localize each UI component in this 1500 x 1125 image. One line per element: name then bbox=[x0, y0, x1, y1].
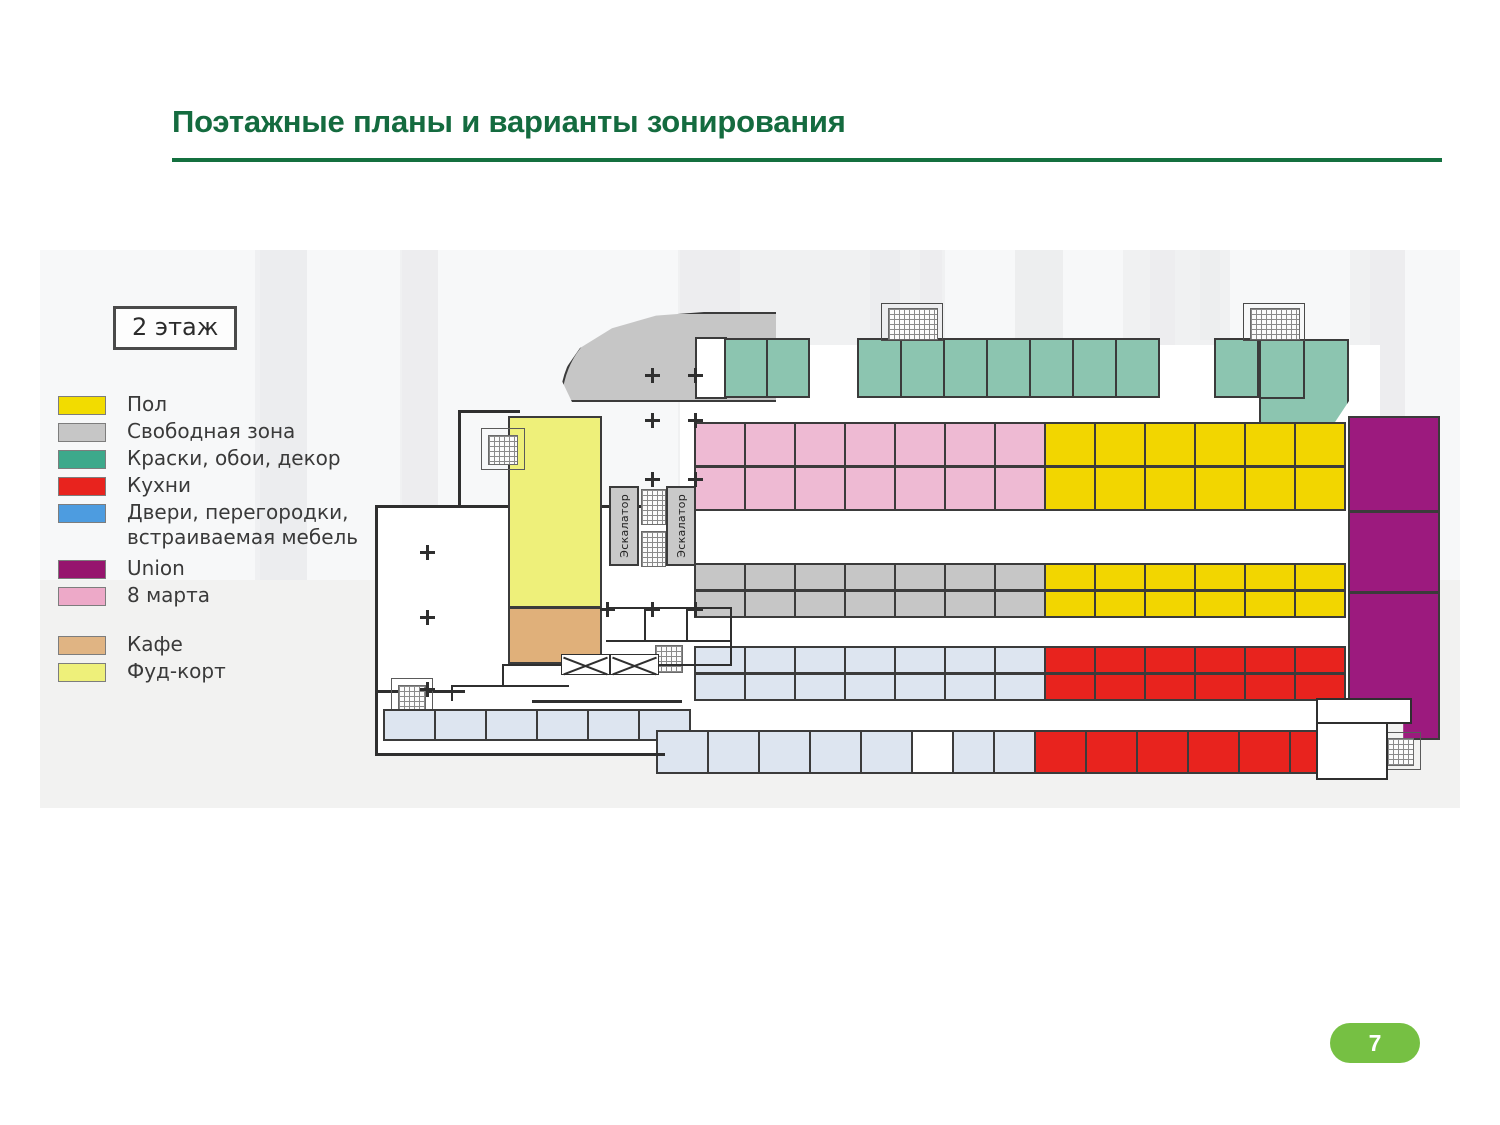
plan-cell[interactable] bbox=[1294, 646, 1346, 674]
column-mark bbox=[600, 602, 615, 617]
core-wall-5 bbox=[532, 700, 682, 703]
column-mark bbox=[645, 472, 660, 487]
plan-cell[interactable] bbox=[1094, 422, 1146, 467]
plan-cell[interactable] bbox=[1194, 646, 1246, 674]
wall-south-west bbox=[375, 753, 665, 756]
plan-cell[interactable] bbox=[860, 730, 913, 774]
plan-cell[interactable] bbox=[1144, 563, 1196, 591]
plan-cell[interactable] bbox=[485, 709, 538, 741]
floor-plan-drawing: Эскалатор Эскалатор bbox=[40, 250, 1460, 808]
plan-cell[interactable] bbox=[1072, 338, 1117, 398]
plan-cell[interactable] bbox=[758, 730, 811, 774]
core-wall-4 bbox=[451, 685, 453, 701]
union-block-1[interactable] bbox=[1348, 416, 1440, 512]
plan-cell[interactable] bbox=[994, 590, 1046, 618]
plan-cell[interactable] bbox=[694, 563, 746, 591]
core-wall-2 bbox=[502, 664, 504, 686]
plan-cell[interactable] bbox=[844, 673, 896, 701]
plan-cell[interactable] bbox=[794, 422, 846, 467]
row-bottom-left-doors bbox=[384, 710, 690, 740]
row-march8-pol-upper bbox=[695, 423, 1345, 466]
row-freezone-pol-upper bbox=[695, 564, 1345, 590]
row-paint-decor-seg3 bbox=[1215, 339, 1258, 399]
row-paint-decor-seg2 bbox=[858, 339, 1159, 399]
plan-cell[interactable] bbox=[1044, 466, 1096, 511]
plan-cell[interactable] bbox=[1294, 563, 1346, 591]
southeast-exit-link bbox=[1316, 698, 1412, 724]
plan-cell[interactable] bbox=[434, 709, 487, 741]
plan-cell[interactable] bbox=[1029, 338, 1074, 398]
row-march8-pol-lower bbox=[695, 467, 1345, 510]
lift-xbox-1 bbox=[561, 654, 610, 675]
escalator-steps-hatch-lower bbox=[641, 531, 666, 567]
plan-cell[interactable] bbox=[994, 466, 1046, 511]
service-wall-1 bbox=[606, 607, 732, 609]
plan-cell[interactable] bbox=[809, 730, 862, 774]
plan-cell[interactable] bbox=[744, 646, 796, 674]
column-mark bbox=[688, 472, 703, 487]
plan-cell[interactable] bbox=[1244, 590, 1296, 618]
plan-cell[interactable] bbox=[1244, 422, 1296, 467]
plan-cell[interactable] bbox=[766, 338, 810, 398]
plan-cell[interactable] bbox=[1044, 422, 1096, 467]
plan-cell[interactable] bbox=[1094, 673, 1146, 701]
plan-cell[interactable] bbox=[943, 338, 988, 398]
plan-cell[interactable] bbox=[1144, 646, 1196, 674]
service-wall-5 bbox=[730, 607, 732, 665]
plan-cell[interactable] bbox=[1144, 466, 1196, 511]
plan-cell-empty[interactable] bbox=[911, 730, 954, 774]
plan-cell[interactable] bbox=[1244, 563, 1296, 591]
page-title: Поэтажные планы и варианты зонирования bbox=[172, 104, 1442, 140]
plan-cell[interactable] bbox=[994, 563, 1046, 591]
plan-cell[interactable] bbox=[1144, 590, 1196, 618]
plan-cell[interactable] bbox=[986, 338, 1031, 398]
plan-cell[interactable] bbox=[844, 563, 896, 591]
plan-cell[interactable] bbox=[894, 673, 946, 701]
plan-cell[interactable] bbox=[1259, 339, 1305, 399]
plan-cell[interactable] bbox=[894, 422, 946, 467]
column-mark bbox=[645, 602, 660, 617]
plan-cell[interactable] bbox=[1244, 466, 1296, 511]
plan-cell[interactable] bbox=[993, 730, 1036, 774]
plan-cell[interactable] bbox=[844, 646, 896, 674]
plan-cell[interactable] bbox=[536, 709, 589, 741]
plan-cell[interactable] bbox=[1294, 422, 1346, 467]
plan-cell[interactable] bbox=[894, 563, 946, 591]
plan-cell[interactable] bbox=[944, 673, 996, 701]
plan-cell[interactable] bbox=[1136, 730, 1189, 774]
service-wall-2 bbox=[606, 640, 732, 642]
column-mark bbox=[420, 682, 435, 697]
row-freezone-pol-lower bbox=[695, 591, 1345, 617]
lift-xbox-2 bbox=[610, 654, 659, 675]
plan-cell[interactable] bbox=[707, 730, 760, 774]
plan-cell[interactable] bbox=[1144, 673, 1196, 701]
column-mark bbox=[420, 545, 435, 560]
plan-cell[interactable] bbox=[994, 422, 1046, 467]
wall-w-upper-h bbox=[458, 410, 520, 413]
plan-cell[interactable] bbox=[656, 730, 709, 774]
plan-cell[interactable] bbox=[994, 646, 1046, 674]
column-mark bbox=[688, 368, 703, 383]
roof-hatch-left-frame bbox=[881, 303, 943, 341]
plan-cell[interactable] bbox=[1094, 590, 1146, 618]
plan-cell[interactable] bbox=[1294, 466, 1346, 511]
plan-cell[interactable] bbox=[694, 673, 746, 701]
plan-cell[interactable] bbox=[1085, 730, 1138, 774]
column-mark bbox=[645, 413, 660, 428]
plan-cell[interactable] bbox=[1294, 673, 1346, 701]
row-doors-kitchens-lower bbox=[695, 674, 1345, 700]
plan-cell[interactable] bbox=[1044, 563, 1096, 591]
plan-cell[interactable] bbox=[794, 646, 846, 674]
plan-cell[interactable] bbox=[1238, 730, 1291, 774]
core-wall-3 bbox=[451, 685, 569, 687]
plan-cell[interactable] bbox=[1144, 422, 1196, 467]
plan-cell[interactable] bbox=[994, 673, 1046, 701]
plan-cell[interactable] bbox=[900, 338, 945, 398]
floor-plan-panel: 2 этаж Пол Свободная зона Краски, обои, … bbox=[40, 250, 1460, 808]
plan-cell[interactable] bbox=[894, 590, 946, 618]
column-mark bbox=[688, 413, 703, 428]
union-block-2[interactable] bbox=[1348, 511, 1440, 593]
escalator-left[interactable]: Эскалатор bbox=[609, 486, 639, 566]
plan-cell[interactable] bbox=[1094, 466, 1146, 511]
plan-cell[interactable] bbox=[944, 466, 996, 511]
row-doors-kitchens-upper bbox=[695, 647, 1345, 673]
plan-cell[interactable] bbox=[744, 422, 796, 467]
service-stairs-hatch bbox=[655, 645, 683, 673]
roof-hatch-right-frame bbox=[1243, 303, 1305, 341]
plan-cell[interactable] bbox=[1244, 646, 1296, 674]
plan-cell[interactable] bbox=[1214, 338, 1259, 398]
plan-cell[interactable] bbox=[744, 563, 796, 591]
escalator-right-label: Эскалатор bbox=[675, 494, 688, 558]
west-stairs-frame bbox=[481, 428, 525, 470]
plan-cell[interactable] bbox=[952, 730, 995, 774]
plan-cell[interactable] bbox=[1244, 673, 1296, 701]
plan-cell[interactable] bbox=[587, 709, 640, 741]
column-mark bbox=[420, 610, 435, 625]
escalator-steps-hatch-upper bbox=[641, 489, 666, 525]
plan-cell[interactable] bbox=[794, 466, 846, 511]
title-underline-rule bbox=[172, 158, 1442, 162]
plan-cell[interactable] bbox=[744, 590, 796, 618]
plan-cell[interactable] bbox=[1194, 590, 1246, 618]
column-mark bbox=[645, 368, 660, 383]
plan-cell[interactable] bbox=[794, 563, 846, 591]
plan-cell[interactable] bbox=[894, 646, 946, 674]
plan-cell[interactable] bbox=[844, 590, 896, 618]
page-number-badge: 7 bbox=[1330, 1023, 1420, 1063]
wall-w-left bbox=[375, 505, 378, 755]
plan-cell[interactable] bbox=[944, 646, 996, 674]
plan-cell[interactable] bbox=[694, 422, 746, 467]
plan-cell[interactable] bbox=[1294, 590, 1346, 618]
plan-cell[interactable] bbox=[744, 466, 796, 511]
column-mark bbox=[688, 602, 703, 617]
plan-cell[interactable] bbox=[1194, 422, 1246, 467]
plan-cell[interactable] bbox=[1115, 338, 1160, 398]
row-paint-decor-seg1 bbox=[725, 339, 809, 399]
plan-cell[interactable] bbox=[944, 563, 996, 591]
row-bottom-doors-kitchens bbox=[657, 731, 1341, 773]
plan-cell[interactable] bbox=[894, 466, 946, 511]
plan-cell[interactable] bbox=[794, 673, 846, 701]
plan-cell[interactable] bbox=[944, 422, 996, 467]
plan-cell[interactable] bbox=[1034, 730, 1087, 774]
plan-cell[interactable] bbox=[1194, 673, 1246, 701]
plan-cell[interactable] bbox=[794, 590, 846, 618]
plan-cell[interactable] bbox=[1044, 673, 1096, 701]
plan-cell[interactable] bbox=[844, 466, 896, 511]
plan-cell[interactable] bbox=[944, 590, 996, 618]
plan-cell[interactable] bbox=[694, 646, 746, 674]
plan-cell[interactable] bbox=[857, 338, 902, 398]
plan-cell[interactable] bbox=[844, 422, 896, 467]
plan-cell[interactable] bbox=[1094, 563, 1146, 591]
escalator-right[interactable]: Эскалатор bbox=[666, 486, 696, 566]
core-wall-1 bbox=[502, 664, 562, 666]
plan-cell[interactable] bbox=[1044, 646, 1096, 674]
plan-cell[interactable] bbox=[1094, 646, 1146, 674]
plan-cell[interactable] bbox=[1187, 730, 1240, 774]
plan-cell[interactable] bbox=[1194, 563, 1246, 591]
wall-w-upper bbox=[458, 410, 461, 506]
plan-cell[interactable] bbox=[1044, 590, 1096, 618]
plan-cell[interactable] bbox=[383, 709, 436, 741]
plan-cell[interactable] bbox=[1194, 466, 1246, 511]
escalator-left-label: Эскалатор bbox=[618, 494, 631, 558]
plan-cell[interactable] bbox=[724, 338, 768, 398]
plan-cell[interactable] bbox=[744, 673, 796, 701]
